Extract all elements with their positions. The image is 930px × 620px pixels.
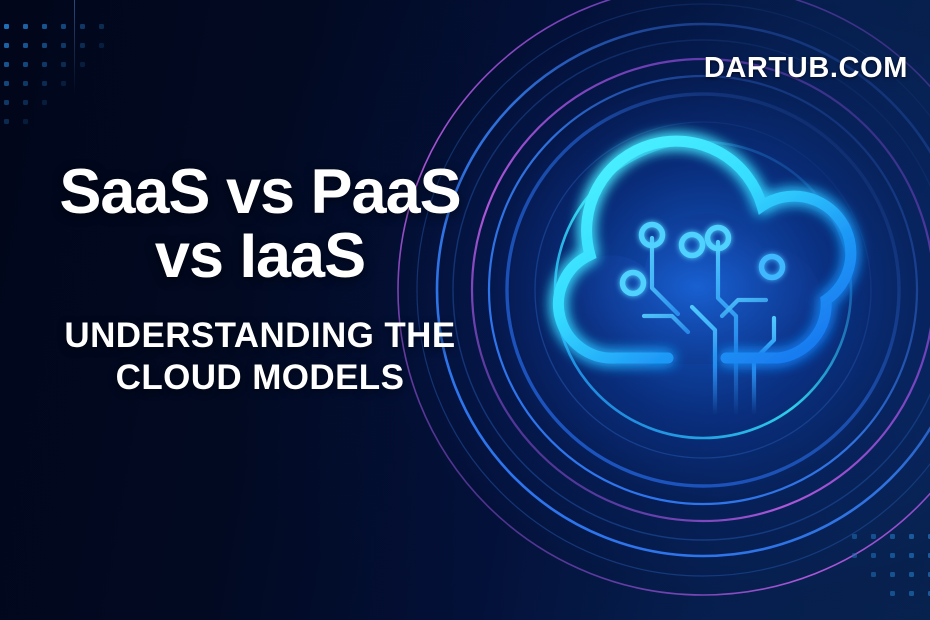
decorative-dot-grid-top-left [4, 24, 124, 134]
subtitle-line-2: CLOUD MODELS [0, 357, 520, 400]
title-line-2: vs IaaS [0, 224, 520, 288]
banner-canvas: DARTUB.COM [0, 0, 930, 620]
title-line-1: SaaS vs PaaS [59, 157, 460, 227]
decorative-dot-grid-bottom-right [852, 534, 930, 614]
cloud-circuit-icon [540, 150, 870, 410]
cloud-circuit-svg [540, 150, 870, 420]
page-title: SaaS vs PaaS vs IaaS [0, 160, 520, 289]
hero-text-block: SaaS vs PaaS vs IaaS UNDERSTANDING THE C… [0, 160, 520, 400]
subtitle-line-1: UNDERSTANDING THE [64, 316, 455, 355]
decorative-vertical-hairline [74, 0, 75, 96]
page-subtitle: UNDERSTANDING THE CLOUD MODELS [0, 315, 520, 400]
site-watermark: DARTUB.COM [704, 52, 908, 85]
